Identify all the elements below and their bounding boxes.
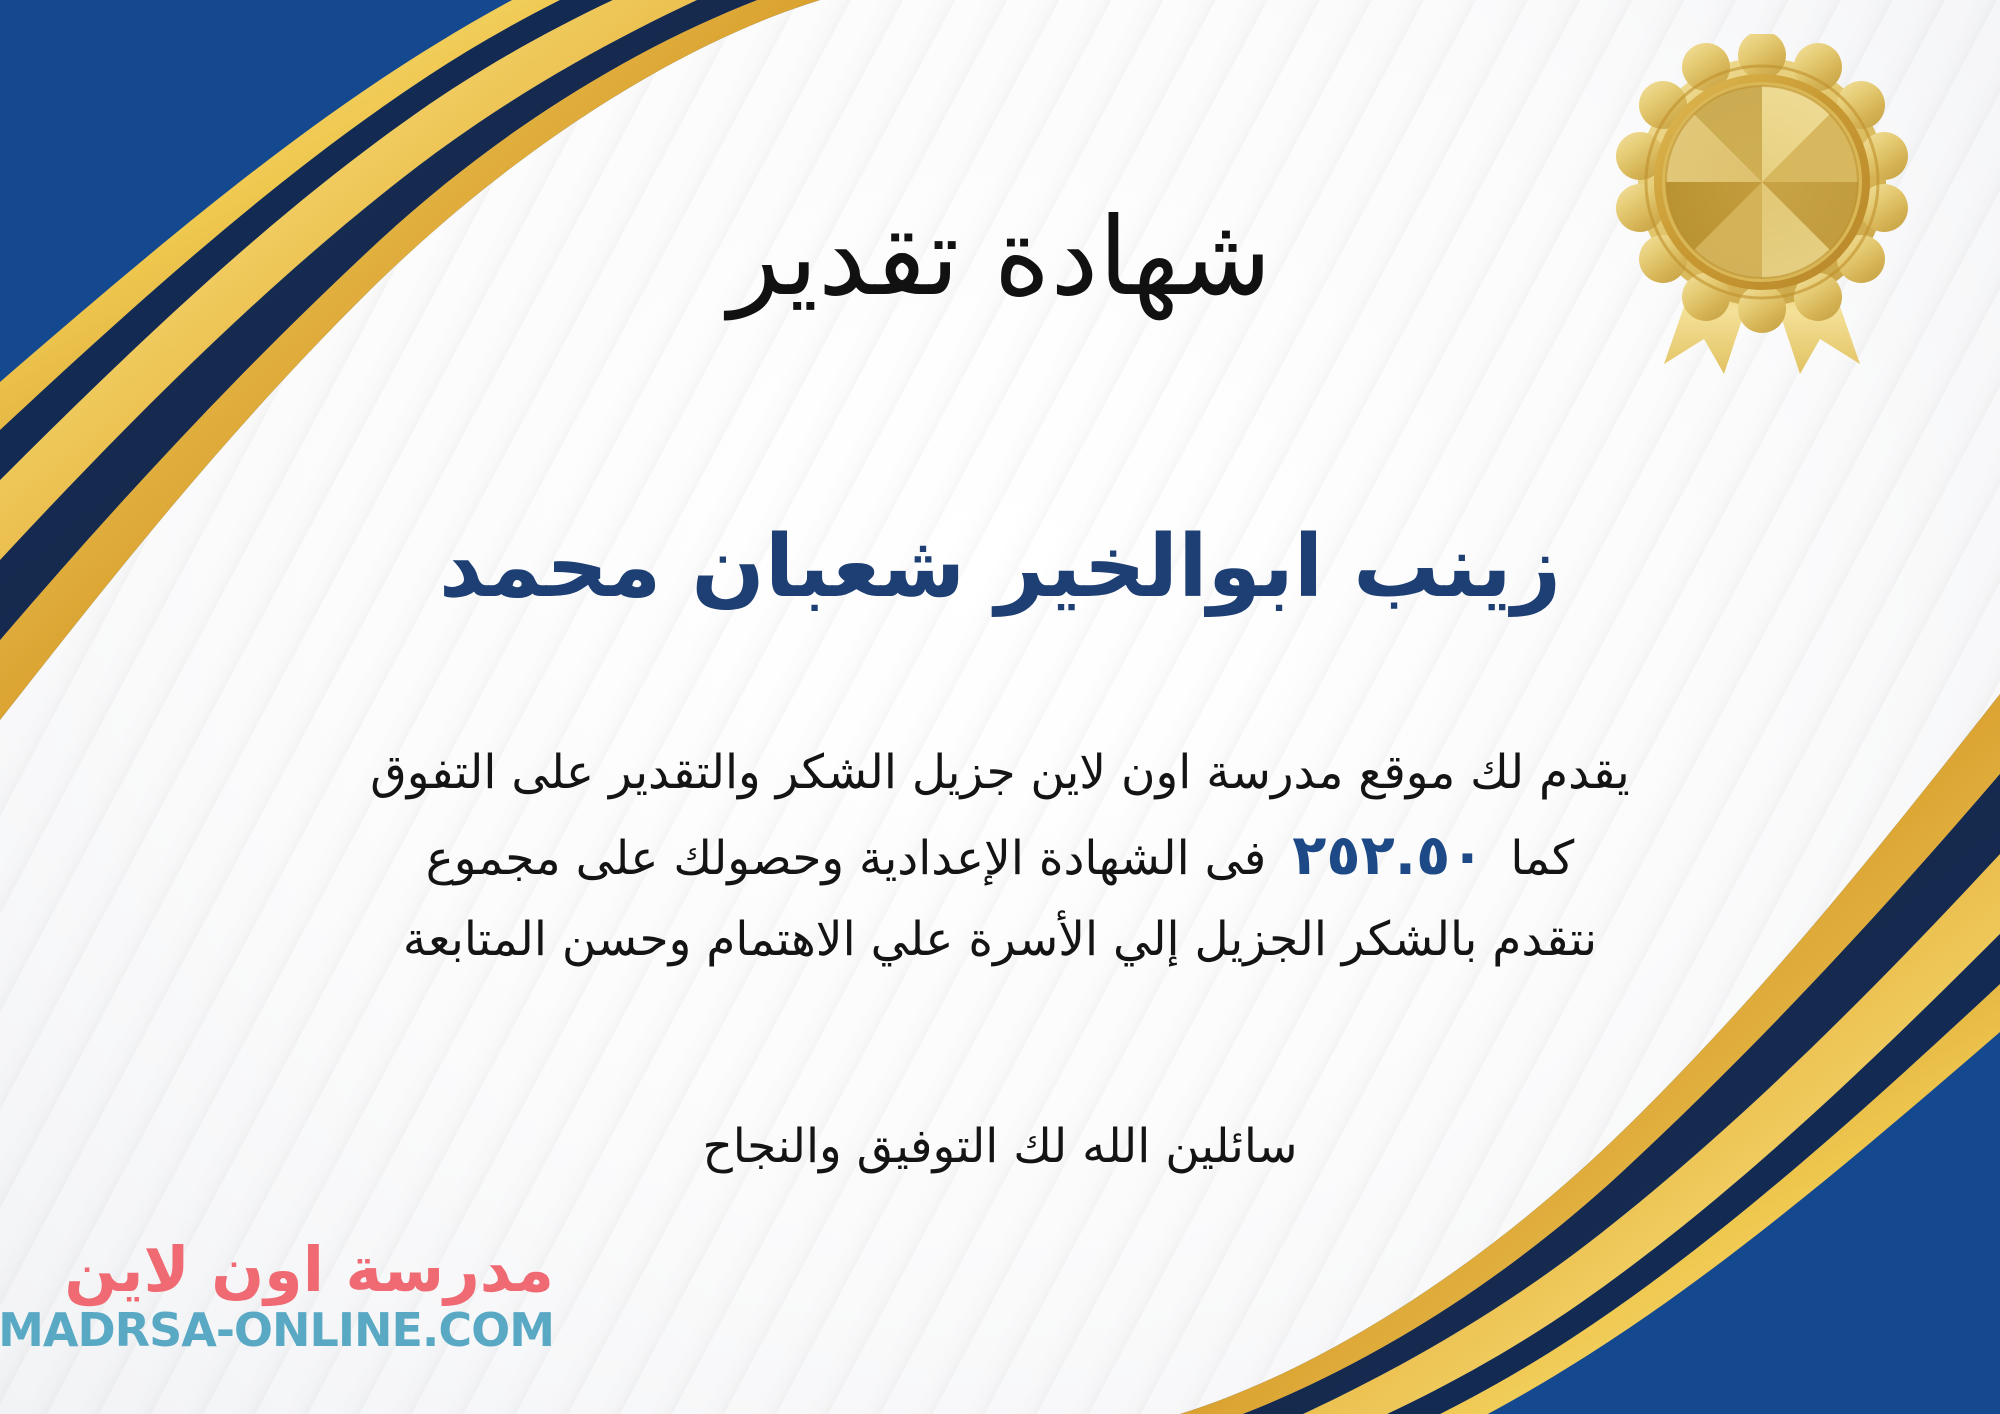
certificate-title: شهادة تقدير [0, 190, 2000, 325]
brand-logo[interactable]: مدرسة اون لاين MADRSA-ONLINE.COM [34, 1236, 554, 1386]
certificate-body-paragraph: يقدم لك موقع مدرسة اون لاين جزيل الشكر و… [60, 735, 1940, 978]
total-score-value: ٢٥٢.٥٠ [1266, 823, 1510, 888]
body-line-3: نتقدم بالشكر الجزيل إلي الأسرة علي الاهت… [60, 902, 1940, 978]
body-line-2-suffix: كما [1510, 831, 1574, 886]
body-line-1: يقدم لك موقع مدرسة اون لاين جزيل الشكر و… [60, 735, 1940, 811]
recipient-name: زينب ابوالخير شعبان محمد [0, 512, 2000, 624]
brand-logo-row: مدرسة اون لاين MADRSA-ONLINE.COM [34, 1236, 554, 1356]
certificate-content: شهادة تقدير زينب ابوالخير شعبان محمد يقد… [0, 0, 2000, 1414]
certificate-canvas: شهادة تقدير زينب ابوالخير شعبان محمد يقد… [0, 0, 2000, 1414]
body-line-2: كما٢٥٢.٥٠فى الشهادة الإعدادية وحصولك على… [60, 811, 1940, 902]
brand-logo-text: مدرسة اون لاين MADRSA-ONLINE.COM [0, 1239, 554, 1353]
brand-name-arabic: مدرسة اون لاين [64, 1239, 554, 1301]
body-line-2-prefix: فى الشهادة الإعدادية وحصولك على مجموع [426, 831, 1267, 886]
brand-name-english: MADRSA-ONLINE.COM [0, 1307, 554, 1353]
closing-line: سائلين الله لك التوفيق والنجاح [0, 1112, 2000, 1183]
